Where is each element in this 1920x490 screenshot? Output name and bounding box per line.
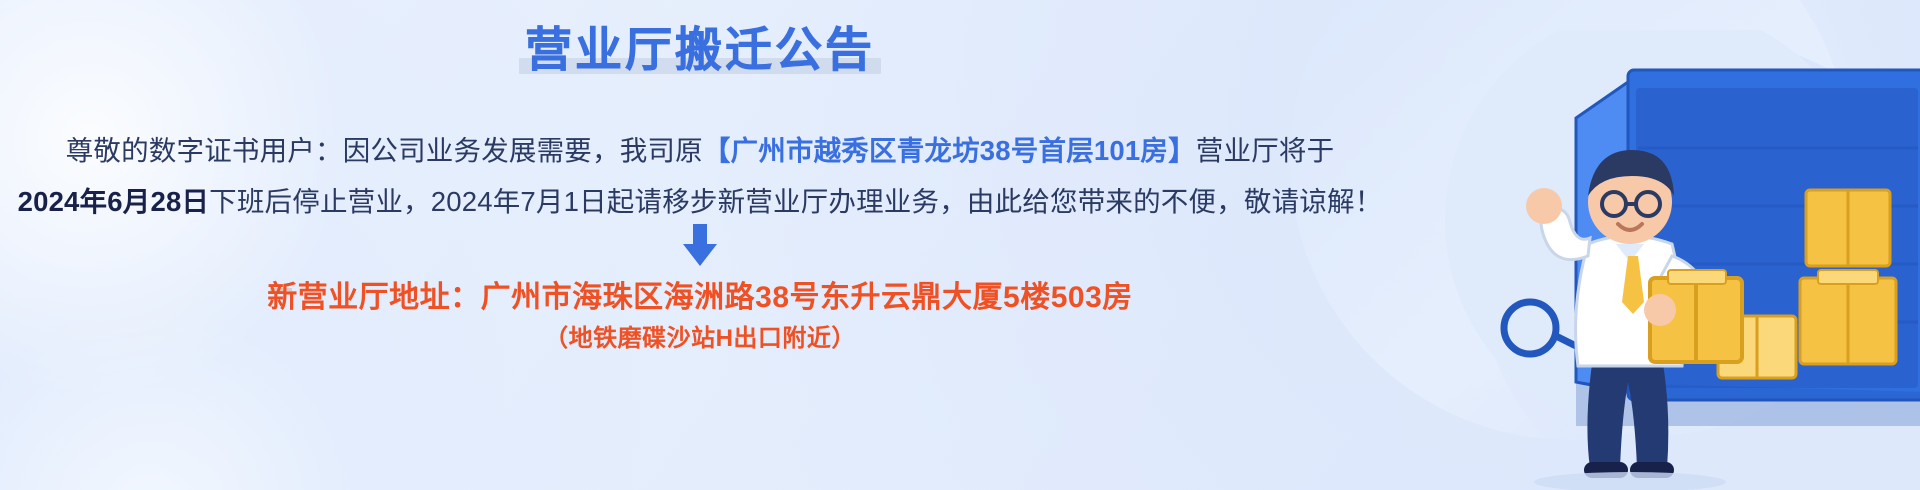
notice-line1-part1: 尊敬的数字证书用户：因公司业务发展需要，我司原 xyxy=(66,135,703,166)
relocation-notice-banner: 营业厅搬迁公告 尊敬的数字证书用户：因公司业务发展需要，我司原【广州市越秀区青龙… xyxy=(0,0,1920,490)
notice-line2-rest: 下班后停止营业，2024年7月1日起请移步新营业厅办理业务，由此给您带来的不便，… xyxy=(209,186,1382,217)
arrow-down-icon xyxy=(0,222,1400,273)
notice-content: 营业厅搬迁公告 尊敬的数字证书用户：因公司业务发展需要，我司原【广州市越秀区青龙… xyxy=(0,0,1400,490)
title-container: 营业厅搬迁公告 xyxy=(0,24,1400,76)
title-text: 营业厅搬迁公告 xyxy=(525,23,875,76)
moving-truck-illustration xyxy=(1330,30,1920,490)
notice-line1-part2: 营业厅将于 xyxy=(1196,135,1335,166)
old-address-highlight: 【广州市越秀区青龙坊38号首层101房】 xyxy=(703,135,1196,166)
notice-paragraph-line-2: 2024年6月28日下班后停止营业，2024年7月1日起请移步新营业厅办理业务，… xyxy=(0,183,1400,221)
new-address-note: （地铁磨碟沙站H出口附近） xyxy=(0,318,1400,353)
notice-paragraph-line-1: 尊敬的数字证书用户：因公司业务发展需要，我司原【广州市越秀区青龙坊38号首层10… xyxy=(0,132,1400,170)
closing-date: 2024年6月28日 xyxy=(18,186,210,217)
page-title: 营业厅搬迁公告 xyxy=(525,24,875,76)
new-address-text: 新营业厅地址：广州市海珠区海洲路38号东升云鼎大厦5楼503房 xyxy=(0,272,1400,316)
